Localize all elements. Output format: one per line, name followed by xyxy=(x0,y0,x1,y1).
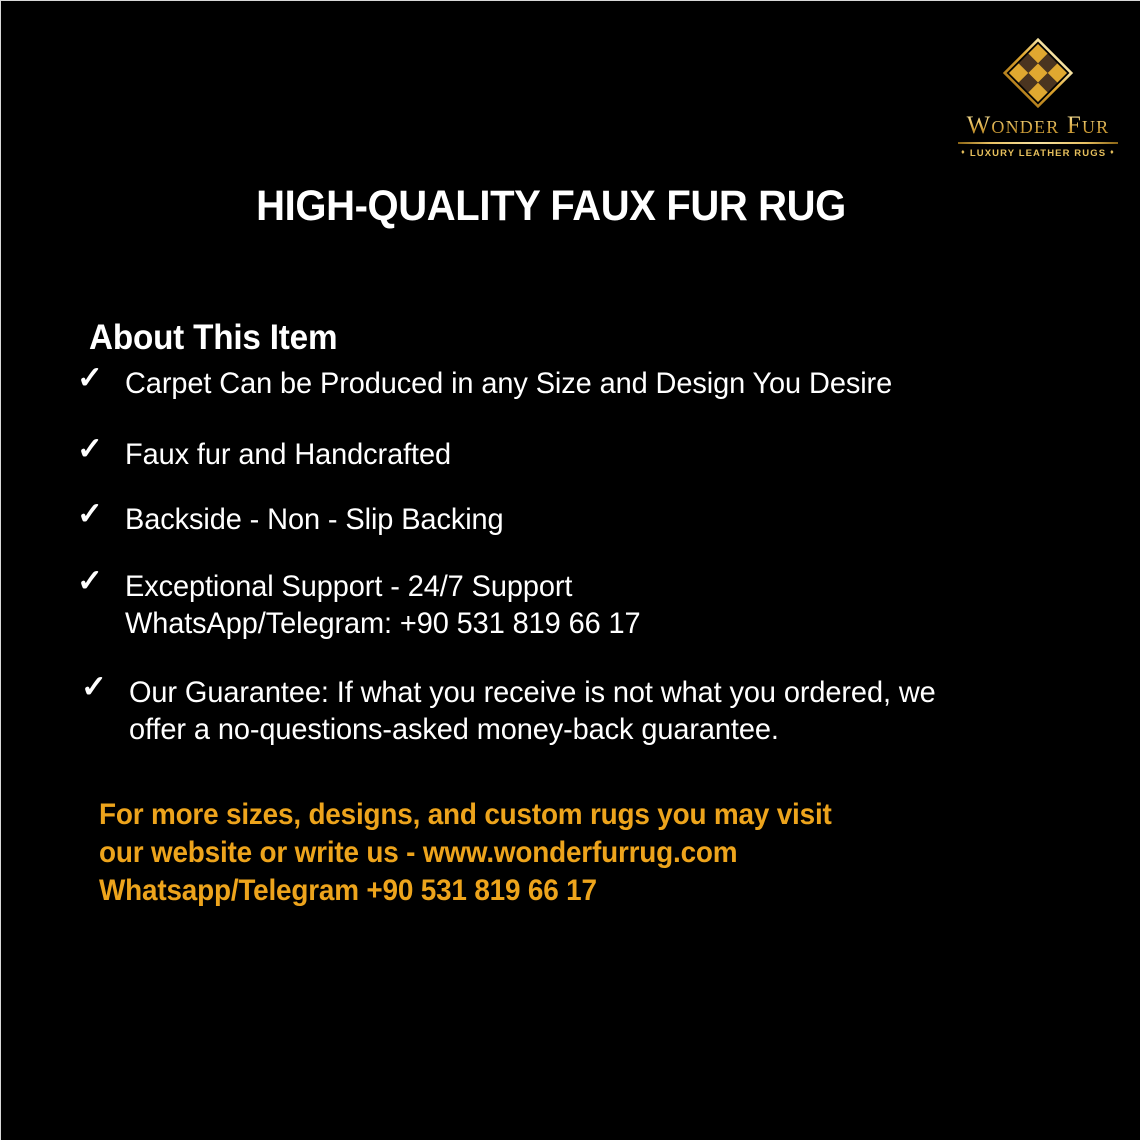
brand-logo: Wonder Fur ♦LUXURY LEATHER RUGS♦ xyxy=(952,35,1124,159)
check-icon: ✓ xyxy=(81,668,107,705)
list-item-label: Carpet Can be Produced in any Size and D… xyxy=(125,365,1051,402)
brand-tagline-text: LUXURY LEATHER RUGS xyxy=(970,148,1106,159)
list-item-label: Faux fur and Handcrafted xyxy=(125,436,1051,473)
check-icon: ✓ xyxy=(77,430,103,467)
check-icon: ✓ xyxy=(77,562,103,599)
brand-wordmark: Wonder Fur xyxy=(952,113,1124,139)
logo-divider-rule xyxy=(958,142,1118,144)
diamond-bullet-right-icon: ♦ xyxy=(1110,149,1115,156)
diamond-bullet-left-icon: ♦ xyxy=(961,149,966,156)
list-item: ✓ Exceptional Support - 24/7 Support Wha… xyxy=(75,568,1085,642)
list-item: ✓ Backside - Non - Slip Backing xyxy=(75,501,1085,538)
product-info-card: Wonder Fur ♦LUXURY LEATHER RUGS♦ HIGH-QU… xyxy=(0,0,1140,1140)
list-item: ✓ Faux fur and Handcrafted xyxy=(75,436,1085,473)
feature-list: ✓ Carpet Can be Produced in any Size and… xyxy=(75,365,1085,748)
list-item-label: Backside - Non - Slip Backing xyxy=(125,501,1051,538)
section-heading-about-this-item: About This Item xyxy=(89,318,337,358)
list-item-label: Exceptional Support - 24/7 Support Whats… xyxy=(125,568,1051,642)
check-icon: ✓ xyxy=(77,359,103,396)
diamond-checker-logo-icon xyxy=(1000,35,1076,111)
list-item: ✓ Our Guarantee: If what you receive is … xyxy=(75,674,1085,748)
page-title: HIGH-QUALITY FAUX FUR RUG xyxy=(40,182,1063,231)
brand-tagline: ♦LUXURY LEATHER RUGS♦ xyxy=(952,148,1124,159)
contact-call-to-action: For more sizes, designs, and custom rugs… xyxy=(99,796,832,910)
check-icon: ✓ xyxy=(77,495,103,532)
list-item-label: Our Guarantee: If what you receive is no… xyxy=(129,674,1052,748)
list-item: ✓ Carpet Can be Produced in any Size and… xyxy=(75,365,1085,402)
